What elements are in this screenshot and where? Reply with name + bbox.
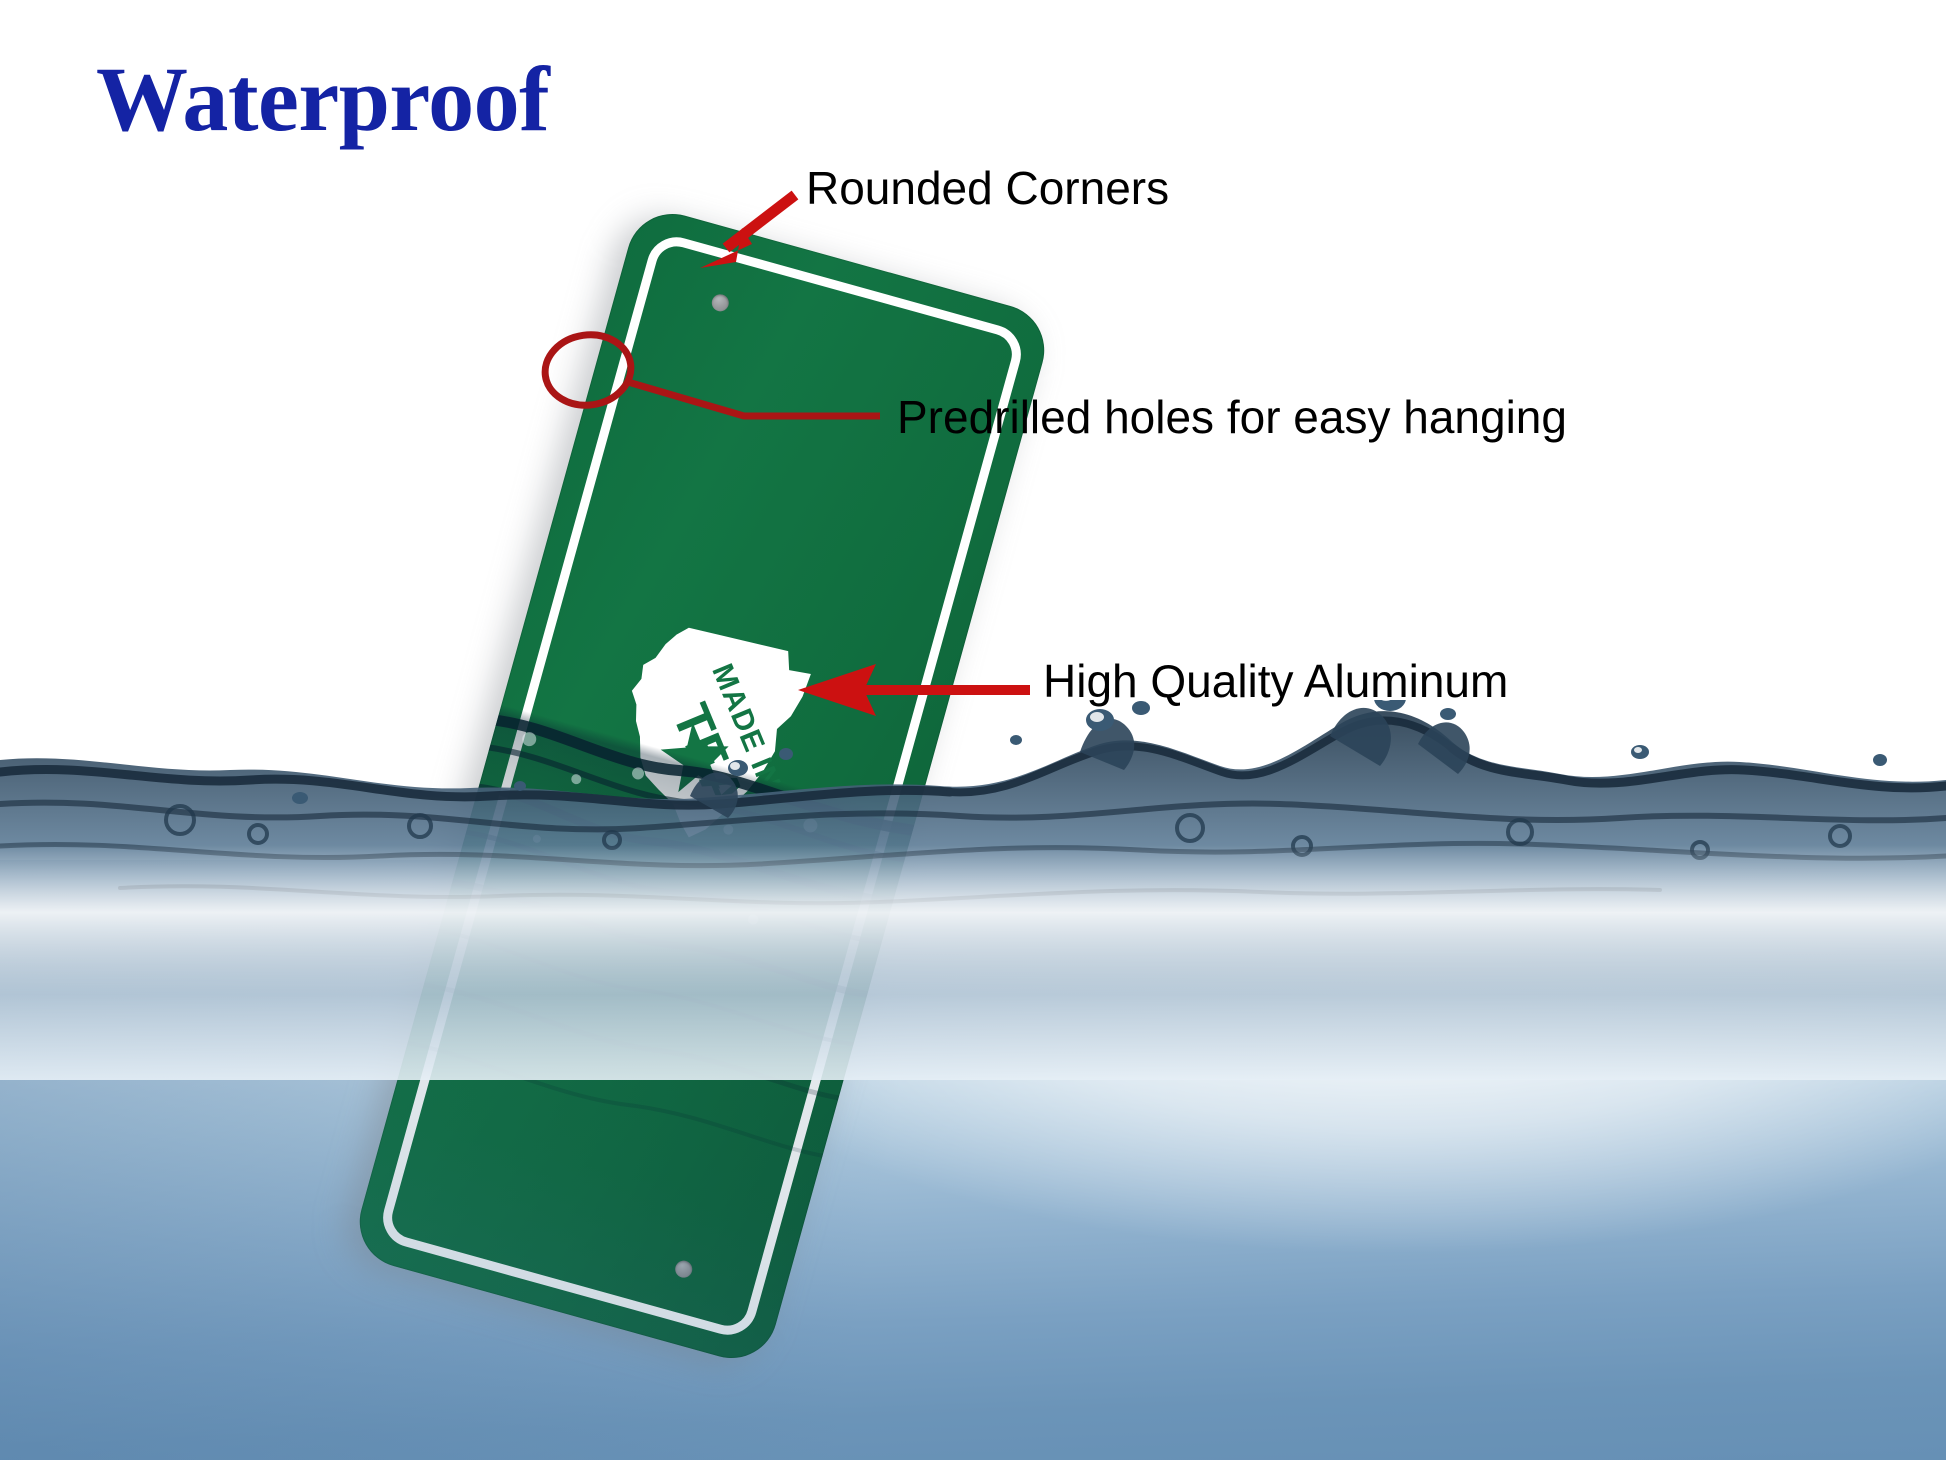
page-title: Waterproof (96, 53, 549, 145)
callout-predrilled-holes: Predrilled holes for easy hanging (897, 393, 1567, 441)
callout-rounded-corners: Rounded Corners (806, 164, 1169, 212)
underwater-gradient (0, 860, 1946, 1460)
callout-high-quality-aluminum: High Quality Aluminum (1043, 657, 1508, 705)
infographic-canvas: MADE IN TE AS (0, 0, 1946, 1460)
